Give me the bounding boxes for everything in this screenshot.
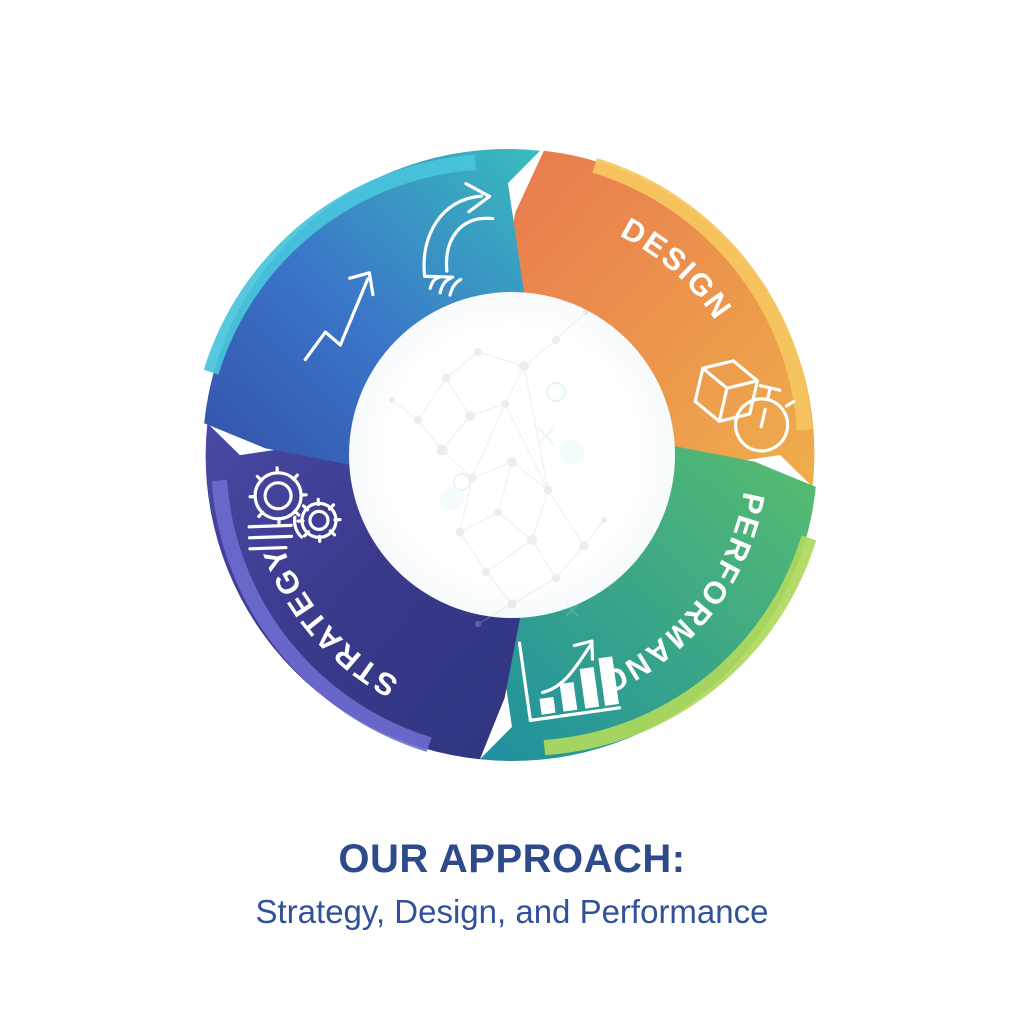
caption-subtitle: Strategy, Design, and Performance [0, 892, 1024, 932]
caption: OUR APPROACH: Strategy, Design, and Perf… [0, 838, 1024, 932]
caption-title: OUR APPROACH: [0, 838, 1024, 880]
diagram-canvas: DESIGN PERFORMANCE STRATEGY [0, 0, 1024, 1024]
center-disc [349, 292, 675, 618]
